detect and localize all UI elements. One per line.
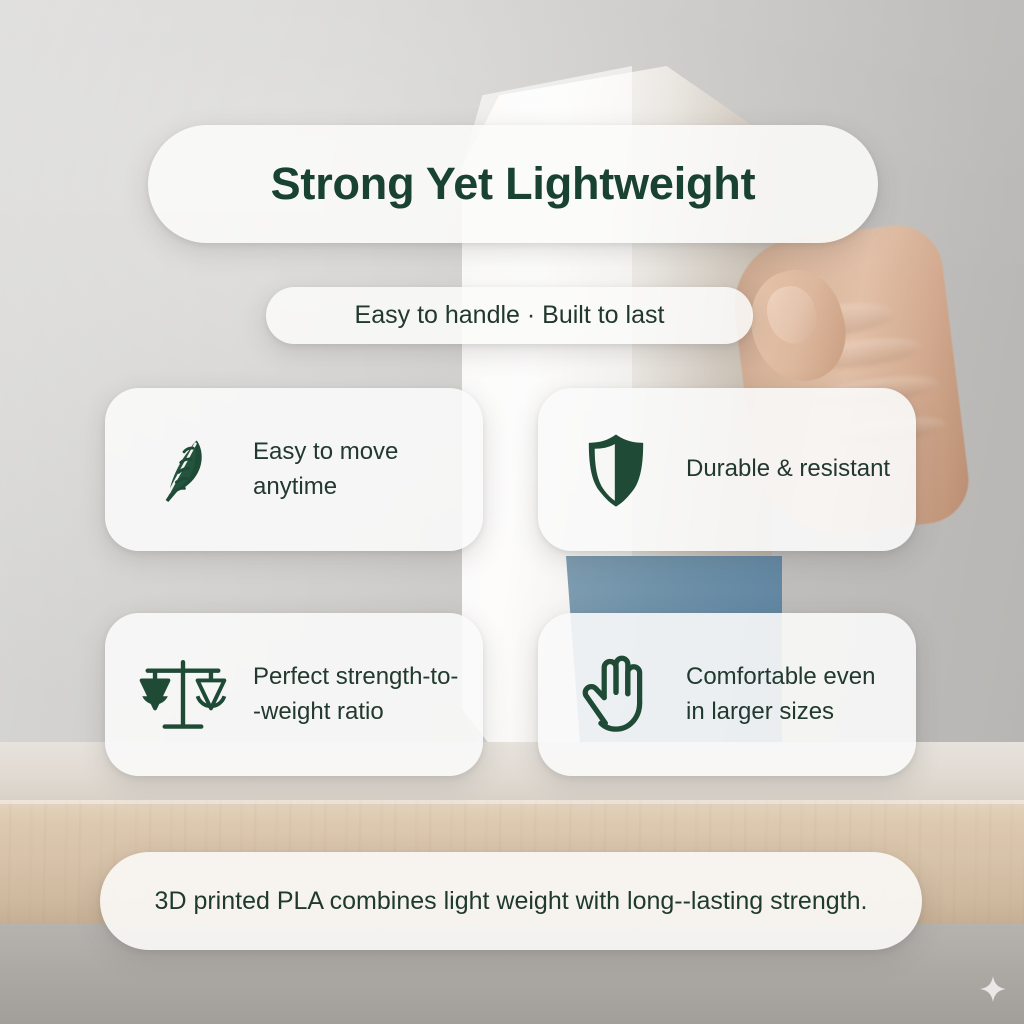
feature-card-durable[interactable]: Durable & resistant — [538, 388, 916, 551]
feature-card-strength-to-weight[interactable]: Perfect strength-to--weight ratio — [105, 613, 483, 776]
feature-card-label: Comfortable even in larger sizes — [686, 660, 894, 728]
feature-card-label: Durable & resistant — [686, 452, 890, 486]
feature-card-label: Perfect strength-to--weight ratio — [253, 660, 461, 728]
shelf-edge-highlight — [0, 800, 1024, 804]
feature-card-easy-to-move[interactable]: Easy to move anytime — [105, 388, 483, 551]
open-hand-icon — [570, 649, 662, 741]
shield-icon — [570, 424, 662, 516]
product-feature-poster: Strong Yet Lightweight Easy to handle · … — [0, 0, 1024, 1024]
feather-icon — [137, 424, 229, 516]
footer-description: 3D printed PLA combines light weight wit… — [107, 883, 916, 919]
page-subtitle: Easy to handle · Built to last — [355, 301, 665, 330]
four-point-sparkle-icon — [978, 975, 1008, 1005]
subtitle-banner: Easy to handle · Built to last — [266, 287, 753, 344]
footer-banner: 3D printed PLA combines light weight wit… — [100, 852, 922, 950]
feature-card-comfortable[interactable]: Comfortable even in larger sizes — [538, 613, 916, 776]
feature-card-label: Easy to move anytime — [253, 435, 461, 503]
title-banner: Strong Yet Lightweight — [148, 125, 878, 243]
balance-scale-icon — [137, 649, 229, 741]
page-title: Strong Yet Lightweight — [271, 158, 756, 210]
